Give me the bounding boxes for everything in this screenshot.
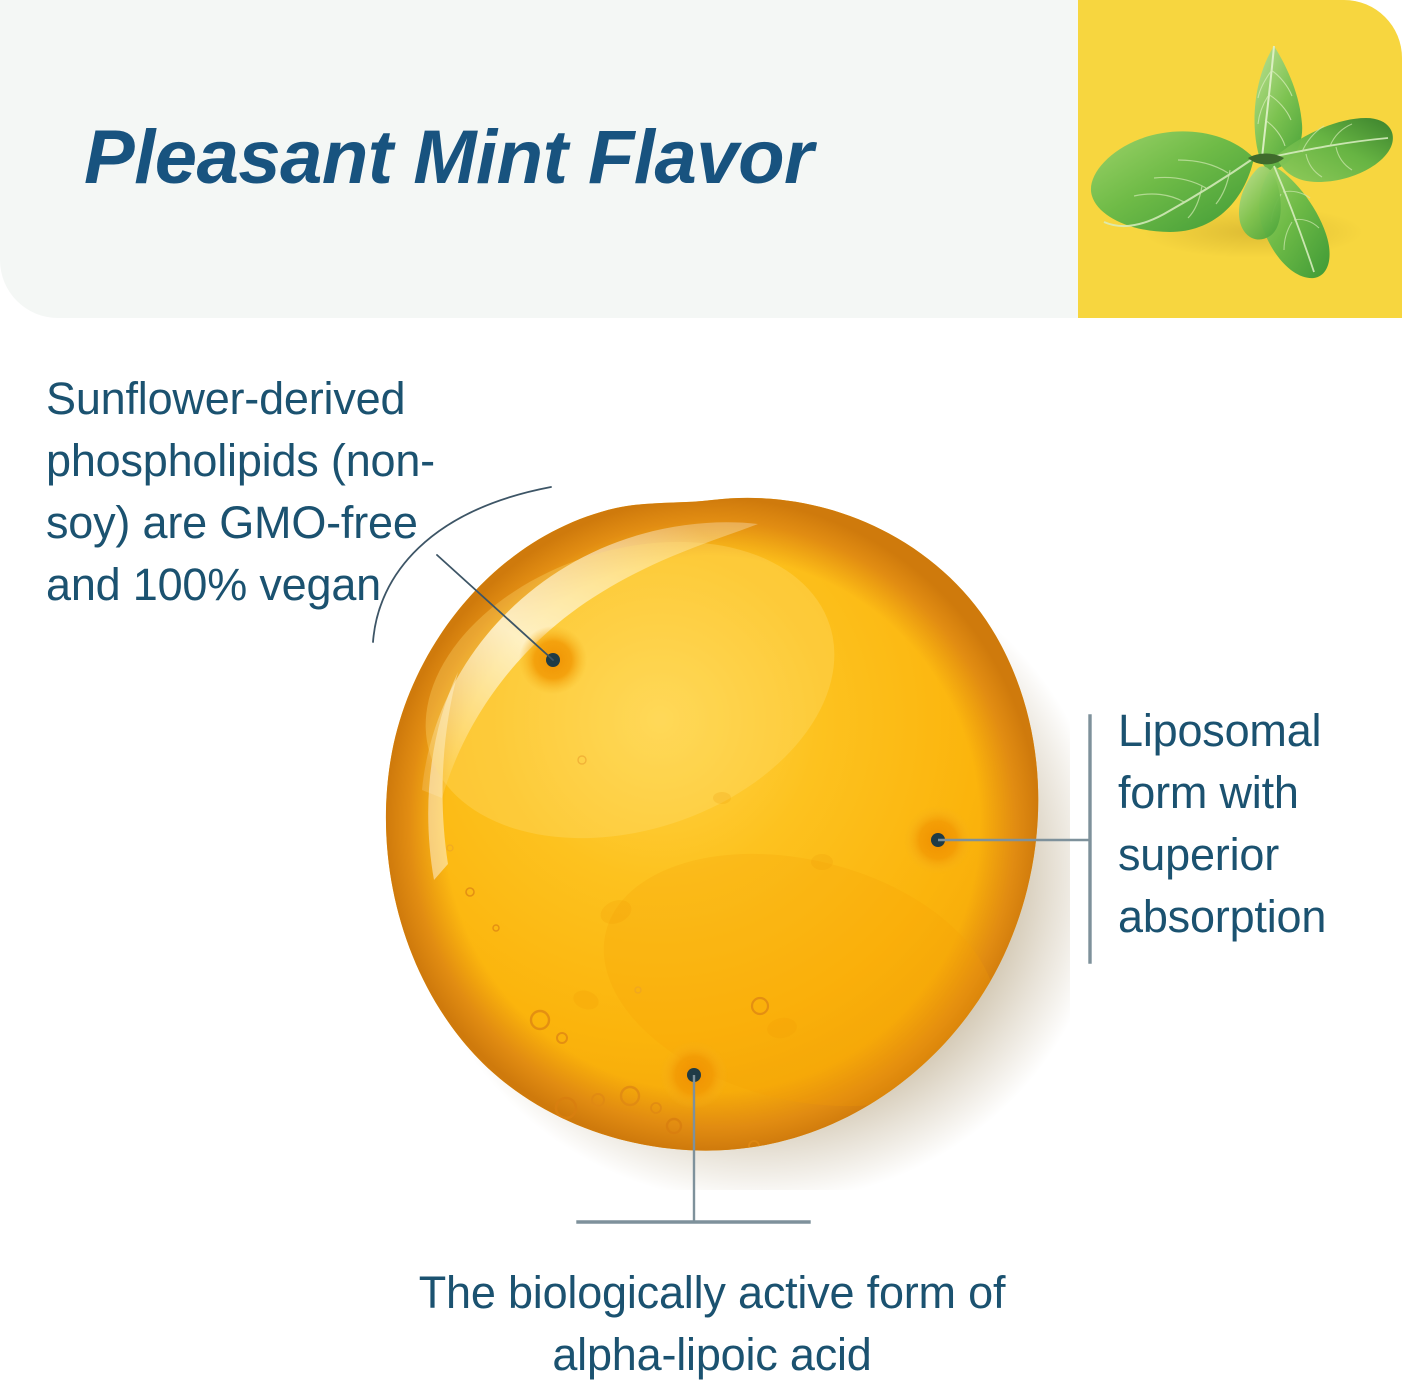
callout-label-sunflower-phospholipids: Sunflower-derived phospholipids (non-soy…: [46, 368, 446, 616]
callout-marker-active-form[interactable]: [660, 1041, 728, 1109]
infographic-canvas: Pleasant Mint Flavor: [0, 0, 1402, 1387]
callout-label-liposomal-absorption: Liposomal form with superior absorption: [1118, 700, 1402, 948]
callout-marker-liposomal[interactable]: [904, 806, 972, 874]
mint-flavor-panel: [1078, 0, 1402, 318]
callout-label-biologically-active-form: The biologically active form of alpha-li…: [392, 1262, 1032, 1386]
callout-marker-phospholipids[interactable]: [519, 626, 587, 694]
mint-leaves-icon: [1078, 0, 1402, 318]
page-title: Pleasant Mint Flavor: [84, 112, 1044, 204]
